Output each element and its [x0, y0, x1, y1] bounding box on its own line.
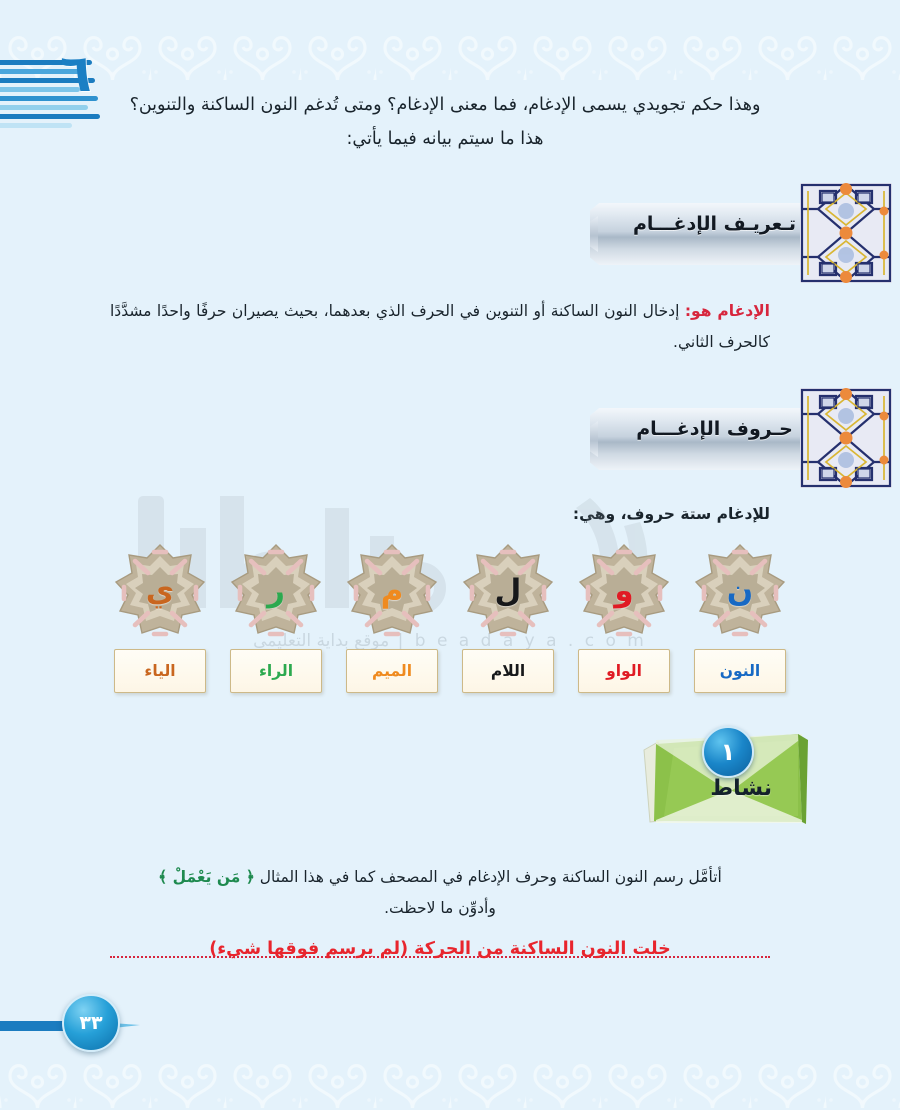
- letter-cell-الراء[interactable]: ر الراء: [226, 543, 326, 693]
- section-title-definition: تـعريـف الإدغـــام: [607, 213, 822, 235]
- letter-glyph-ر: ر: [226, 543, 326, 643]
- letter-name-label-الياء: الياء: [114, 649, 206, 693]
- letter-name-label-الميم: الميم: [346, 649, 438, 693]
- letter-glyph-ل: ل: [458, 543, 558, 643]
- section-banner-letters: حـروف الإدغـــام: [570, 388, 900, 488]
- idgham-letters-row: ن النون: [110, 543, 790, 693]
- intro-paragraph: وهذا حكم تجويدي يسمى الإدغام، فما معنى ا…: [100, 88, 790, 156]
- section-banner-definition: تـعريـف الإدغـــام: [570, 183, 900, 283]
- activity-instruction: أتأمَّل رسم النون الساكنة وحرف الإدغام ف…: [110, 862, 770, 924]
- quran-quote: ﴿ مَن يَعْمَلْ ﴾: [158, 868, 255, 886]
- eight-pointed-star-icon: ر: [226, 543, 326, 643]
- letter-name-label-النون: النون: [694, 649, 786, 693]
- definition-lead: الإدغام هو:: [685, 302, 770, 320]
- intro-line-2: هذا ما سيتم بيانه فيما يأتي:: [100, 122, 790, 156]
- page-footer: ٣٣: [0, 1000, 900, 1110]
- activity-instruction-before: أتأمَّل رسم النون الساكنة وحرف الإدغام ف…: [255, 868, 722, 886]
- section-title-letters: حـروف الإدغـــام: [607, 418, 822, 440]
- letter-glyph-ي: ي: [110, 543, 210, 643]
- letter-cell-الياء[interactable]: ي الياء: [110, 543, 210, 693]
- activity-answer-text: خلت النون الساكنة من الحركة (لم يرسم فوق…: [203, 939, 677, 959]
- eight-pointed-star-icon: ل: [458, 543, 558, 643]
- eight-pointed-star-icon: و: [574, 543, 674, 643]
- letter-glyph-م: م: [342, 543, 442, 643]
- definition-body: الإدغام هو: إدخال النون الساكنة أو التنو…: [110, 296, 770, 358]
- letter-cell-اللام[interactable]: ل اللام: [458, 543, 558, 693]
- activity-answer-line[interactable]: خلت النون الساكنة من الحركة (لم يرسم فوق…: [110, 932, 770, 966]
- chapter-number-banner: ٦: [0, 52, 150, 144]
- activity-number-badge: ١: [702, 726, 754, 778]
- eight-pointed-star-icon: ن: [690, 543, 790, 643]
- definition-text: إدخال النون الساكنة أو التنوين في الحرف …: [110, 302, 770, 351]
- intro-line-1: وهذا حكم تجويدي يسمى الإدغام، فما معنى ا…: [130, 95, 761, 115]
- letter-cell-الواو[interactable]: و الواو: [574, 543, 674, 693]
- letter-name-label-الواو: الواو: [578, 649, 670, 693]
- eight-pointed-star-icon: ي: [110, 543, 210, 643]
- letter-glyph-ن: ن: [690, 543, 790, 643]
- letter-name-label-الراء: الراء: [230, 649, 322, 693]
- letter-name-label-اللام: اللام: [462, 649, 554, 693]
- eight-pointed-star-icon: م: [342, 543, 442, 643]
- page-number: ٣٣: [62, 994, 120, 1052]
- letter-glyph-و: و: [574, 543, 674, 643]
- letter-cell-النون[interactable]: ن النون: [690, 543, 790, 693]
- textbook-page: ٦ وهذا حكم تجويدي يسمى الإدغام، فما معنى…: [0, 0, 900, 1110]
- activity-label: نشاط: [710, 776, 772, 801]
- letters-intro-text: للإدغام ستة حروف، وهي:: [110, 499, 770, 530]
- chapter-number: ٦: [60, 48, 92, 100]
- letter-cell-الميم[interactable]: م الميم: [342, 543, 442, 693]
- activity-marker: نشاط ١: [630, 724, 810, 829]
- activity-instruction-after: وأدوِّن ما لاحظت.: [384, 899, 496, 917]
